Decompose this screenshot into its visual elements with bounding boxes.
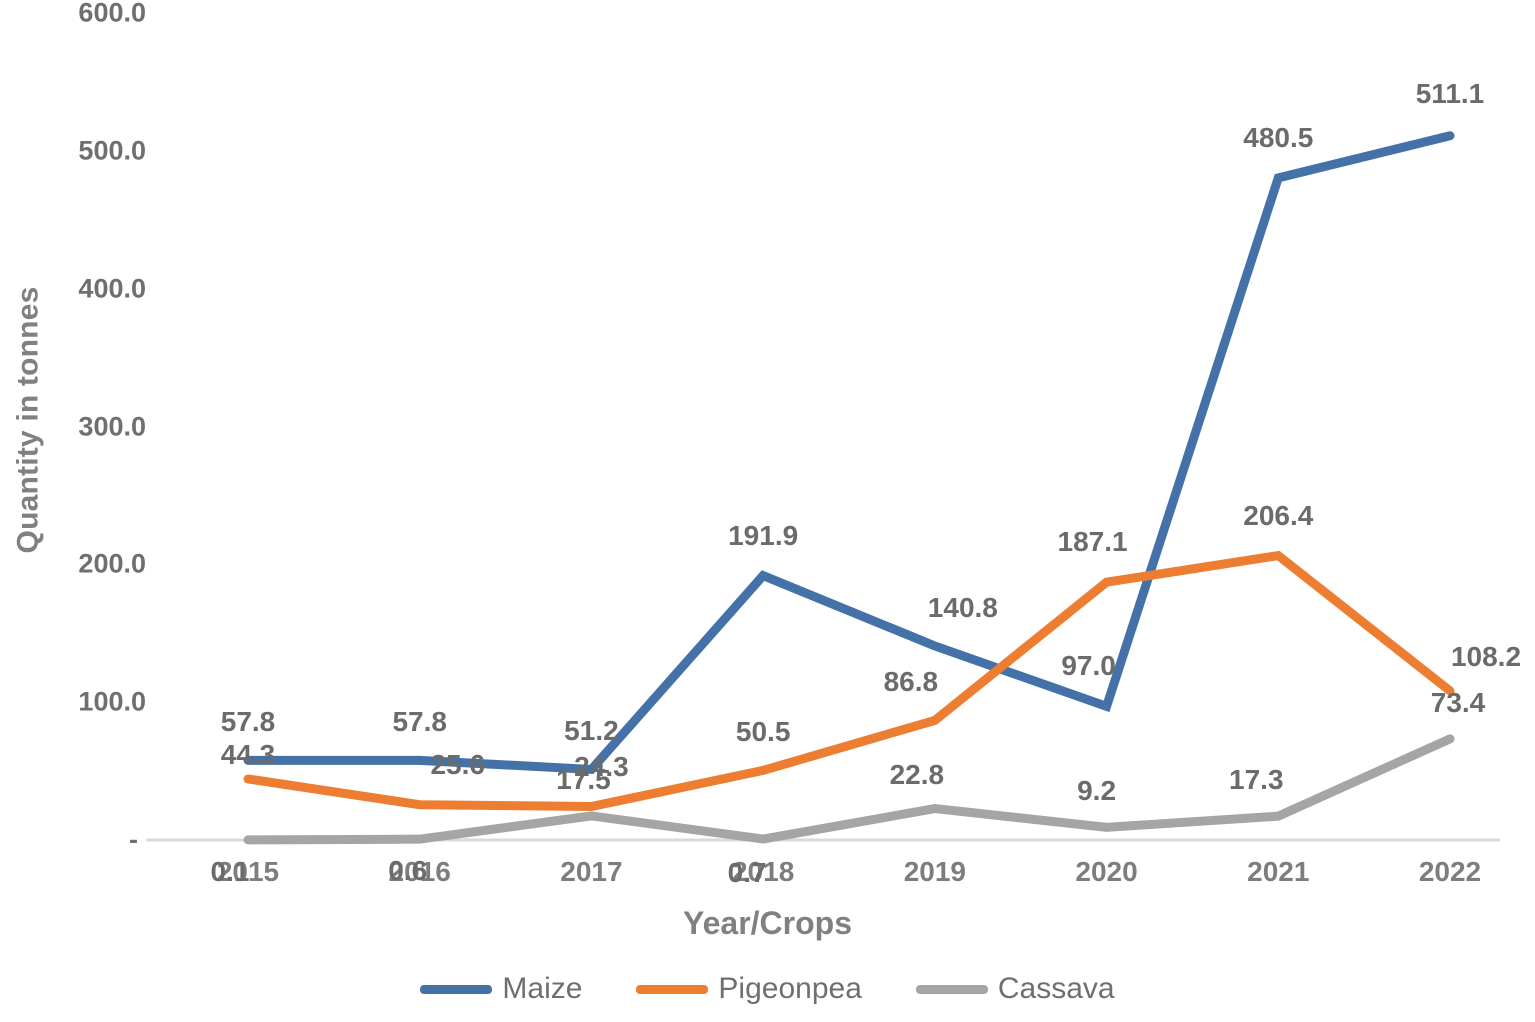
- legend-label: Cassava: [998, 972, 1115, 1006]
- line-chart: Quantity in tonnes 600.0500.0400.0300.02…: [0, 0, 1535, 1022]
- legend-swatch-icon: [636, 985, 708, 994]
- legend-swatch-icon: [420, 985, 492, 994]
- chart-legend: MaizePigeonpeaCassava: [0, 972, 1535, 1006]
- x-axis-title: Year/Crops: [0, 905, 1535, 942]
- legend-item-cassava[interactable]: Cassava: [916, 972, 1115, 1006]
- legend-item-maize[interactable]: Maize: [420, 972, 582, 1006]
- series-line-cassava: [248, 739, 1450, 840]
- plot-area: [0, 0, 1535, 1022]
- series-line-maize: [248, 136, 1450, 770]
- legend-label: Pigeonpea: [718, 972, 861, 1006]
- series-line-pigeonpea: [248, 556, 1450, 807]
- legend-item-pigeonpea[interactable]: Pigeonpea: [636, 972, 861, 1006]
- legend-swatch-icon: [916, 985, 988, 994]
- legend-label: Maize: [502, 972, 582, 1006]
